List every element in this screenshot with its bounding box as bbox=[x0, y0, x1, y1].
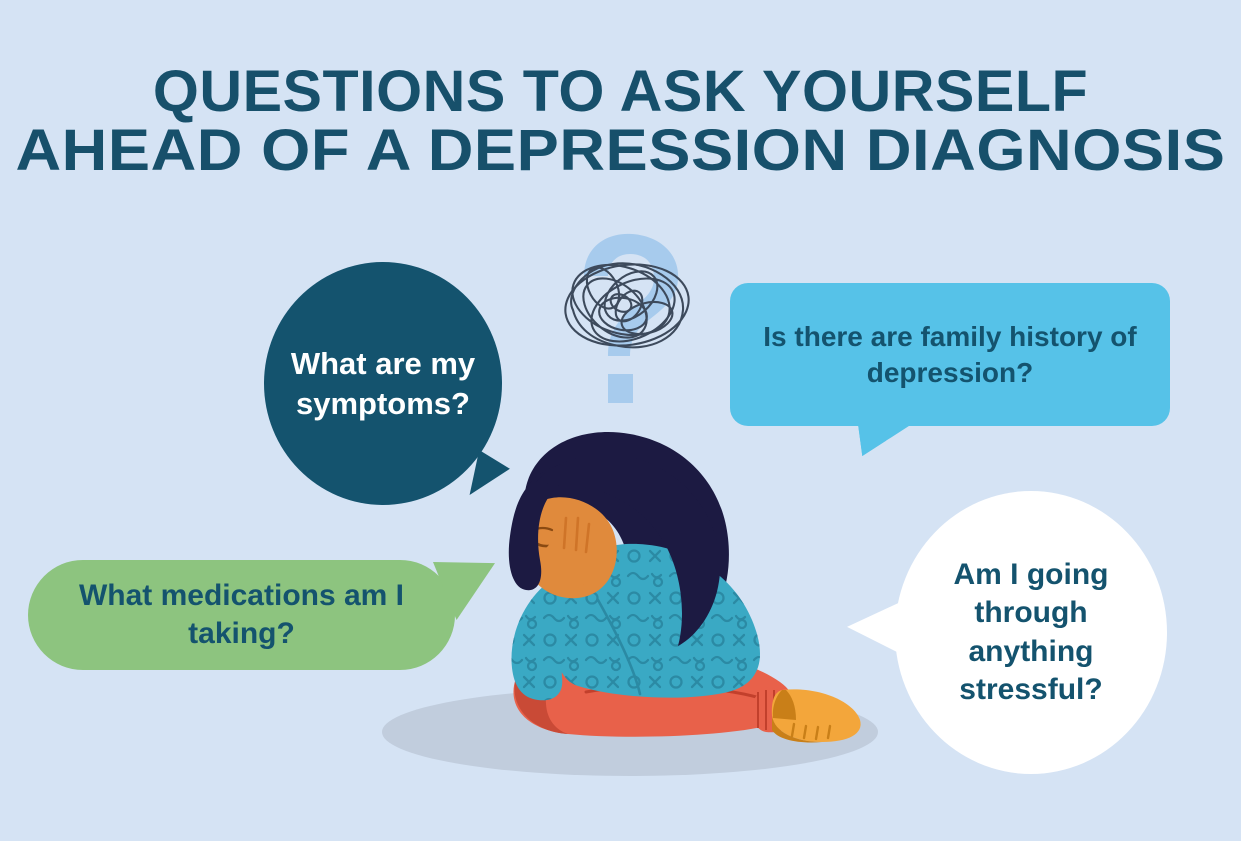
speech-bubble-medications[interactable]: What medications am I taking? bbox=[28, 560, 455, 670]
speech-bubble-family-history[interactable]: Is there are family history of depressio… bbox=[730, 283, 1170, 426]
speech-bubble-family-history-text: Is there are family history of depressio… bbox=[748, 319, 1152, 391]
speech-bubble-stress-text: Am I going through anything stressful? bbox=[913, 556, 1149, 710]
speech-bubble-symptoms-text: What are my symptoms? bbox=[290, 344, 476, 423]
title-line-1: QUESTIONS TO ASK YOURSELF bbox=[0, 62, 1241, 121]
tangled-thought-scribble-icon bbox=[543, 248, 713, 363]
speech-bubble-stress[interactable]: Am I going through anything stressful? bbox=[895, 491, 1167, 774]
title-line-2: AHEAD OF A DEPRESSION DIAGNOSIS bbox=[0, 121, 1241, 180]
infographic-canvas: QUESTIONS TO ASK YOURSELF AHEAD OF A DEP… bbox=[0, 0, 1241, 841]
page-title: QUESTIONS TO ASK YOURSELF AHEAD OF A DEP… bbox=[0, 62, 1241, 180]
speech-bubble-symptoms[interactable]: What are my symptoms? bbox=[264, 262, 502, 505]
speech-bubble-medications-text: What medications am I taking? bbox=[48, 577, 435, 654]
